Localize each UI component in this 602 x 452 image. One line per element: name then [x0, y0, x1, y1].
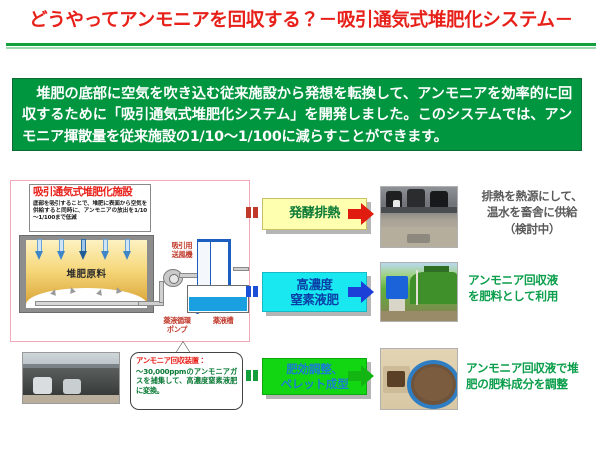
air-intake-arrow-main	[79, 239, 87, 261]
air-intake-arrow	[57, 239, 65, 261]
slide-root: どうやってアンモニアを回収する？－吸引通気式堆肥化システム－ 堆肥の底部に空気を…	[0, 0, 602, 452]
photo-detail-tank	[33, 377, 52, 394]
scrubber-downcomer	[228, 239, 231, 287]
cattle-barn-photo	[380, 186, 458, 248]
ammonia-device-callout: アンモニア回収装置： ～30,000ppmのアンモニアガスを捕集して、高濃度窒素…	[130, 352, 243, 410]
connector-heat	[246, 207, 259, 218]
photo-detail-blue-tank	[386, 276, 409, 299]
facility-photo	[22, 352, 120, 404]
exhaust-pipe	[233, 267, 249, 271]
underfloor-duct	[35, 301, 139, 306]
duct-riser	[159, 281, 164, 303]
air-intake-arrow	[123, 239, 131, 261]
pump-label: 薬液循環 ポンプ	[155, 317, 199, 334]
suction-blower	[163, 269, 183, 287]
photo-detail-pole	[416, 270, 418, 305]
scrubber-top-pipe	[197, 239, 231, 242]
summary-box: 堆肥の底部に空気を吹き込む従来施設から発想を転換して、アンモニアを効率的に回収す…	[12, 78, 582, 151]
page-title: どうやってアンモニアを回収する？－吸引通気式堆肥化システム－	[0, 6, 602, 32]
photo-detail-drain	[407, 234, 430, 244]
air-intake-arrow	[101, 239, 109, 261]
summary-text: 堆肥の底部に空気を吹き込む従来施設から発想を転換して、アンモニアを効率的に回収す…	[22, 84, 572, 148]
arrow-to-cattle-photo	[348, 203, 374, 225]
tank-label: 薬液槽	[203, 317, 243, 326]
right-text-fertilizer: アンモニア回収液 を肥料として利用	[468, 272, 596, 305]
arrow-to-field-photo	[348, 281, 374, 303]
pit-label: 堆肥原料	[20, 266, 153, 280]
title-divider	[6, 43, 596, 49]
photo-detail-beam	[23, 364, 119, 368]
right-text-adjust: アンモニア回収液で堆 肥の肥料成分を調整	[466, 360, 598, 393]
facility-callout: 吸引通気式堆肥化施設 底部を吸引することで、堆肥に表面から空気を供給すると同時に…	[29, 184, 151, 232]
photo-detail-cow	[407, 189, 425, 208]
ammonia-device-callout-title: アンモニア回収装置：	[136, 357, 237, 366]
compost-pellet-photo	[380, 348, 458, 410]
photo-detail-pellets	[387, 371, 405, 388]
photo-detail-bowl	[407, 360, 458, 409]
blower-outlet-duct	[179, 273, 199, 278]
photo-detail-ground	[23, 395, 119, 403]
tank-liquid-level	[189, 297, 247, 311]
field-tank-photo	[380, 262, 458, 322]
photo-detail-cow	[430, 191, 448, 209]
air-intake-arrow	[35, 239, 43, 261]
divider-line-thin	[6, 47, 596, 49]
arrow-to-bowl-photo	[348, 365, 374, 387]
photo-detail-rail	[381, 207, 457, 212]
divider-line-thick	[6, 43, 596, 46]
photo-detail-soil	[381, 311, 457, 321]
ammonia-device-callout-body: ～30,000ppmのアンモニアガスを捕集して、高濃度窒素液肥に変換。	[136, 367, 237, 396]
right-text-heat: 排熱を熱源にして、 温水を畜舎に供給 （検討中）	[468, 188, 596, 237]
facility-callout-body: 底部を吸引することで、堆肥に表面から空気を供給すると同時に、アンモニアの放出を1…	[33, 201, 147, 223]
photo-detail-tank	[63, 379, 80, 394]
connector-pellet	[246, 370, 259, 381]
facility-callout-title: 吸引通気式堆肥化施設	[33, 187, 147, 199]
connector-nfert	[246, 286, 259, 297]
facility-diagram: 吸引通気式堆肥化施設 底部を吸引することで、堆肥に表面から空気を供給すると同時に…	[10, 180, 250, 342]
chemical-liquid-tank	[187, 285, 249, 313]
